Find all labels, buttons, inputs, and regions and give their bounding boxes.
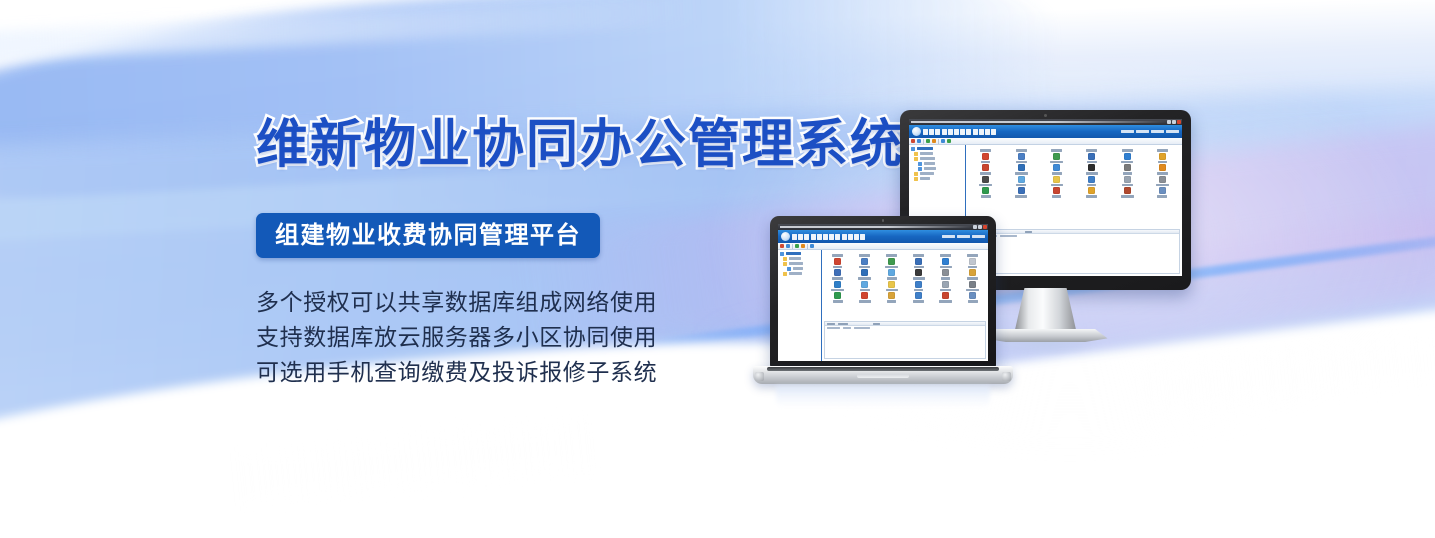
window-title-text bbox=[780, 226, 972, 228]
maximize-icon[interactable] bbox=[978, 225, 982, 229]
module-icon bbox=[969, 292, 976, 299]
module-label bbox=[1087, 161, 1097, 164]
module-icon bbox=[1053, 164, 1060, 171]
module-grid-item[interactable] bbox=[1109, 176, 1144, 187]
module-label bbox=[980, 149, 991, 152]
module-icon bbox=[969, 258, 976, 265]
toolbar-icon[interactable] bbox=[801, 244, 805, 248]
tree-node-label bbox=[789, 272, 802, 275]
module-label bbox=[858, 277, 871, 280]
window-title-text bbox=[911, 121, 1166, 123]
module-label bbox=[887, 300, 896, 303]
app-header-banner bbox=[909, 125, 1182, 138]
module-label bbox=[1015, 172, 1028, 175]
module-label bbox=[1158, 161, 1167, 164]
module-icon bbox=[1159, 187, 1166, 194]
tree-node-label bbox=[786, 252, 801, 255]
tree-node[interactable] bbox=[911, 152, 963, 156]
app-title-text bbox=[923, 129, 996, 135]
module-label bbox=[1121, 161, 1133, 164]
folder-icon bbox=[918, 167, 922, 171]
module-label bbox=[913, 254, 924, 257]
module-icon bbox=[888, 292, 895, 299]
toolbar-separator bbox=[938, 139, 939, 144]
monitor-shadow bbox=[990, 342, 1102, 356]
cell-value bbox=[827, 327, 840, 329]
folder-icon bbox=[783, 272, 787, 276]
module-grid-caption bbox=[1004, 148, 1039, 152]
module-icon bbox=[1124, 187, 1131, 194]
module-grid-item[interactable] bbox=[851, 269, 878, 280]
module-grid-item[interactable] bbox=[1109, 153, 1144, 164]
module-icon bbox=[982, 187, 989, 194]
tree-node-label bbox=[789, 262, 803, 265]
module-grid-item[interactable] bbox=[968, 164, 1003, 175]
toolbar-icon[interactable] bbox=[911, 139, 915, 143]
module-label bbox=[1122, 149, 1133, 152]
tree-node[interactable] bbox=[780, 272, 819, 276]
module-label bbox=[885, 266, 898, 269]
app-title-text bbox=[792, 234, 865, 240]
toolbar-icon[interactable] bbox=[932, 139, 936, 143]
toolbar-icon[interactable] bbox=[917, 139, 921, 143]
tree-node-label bbox=[793, 267, 803, 270]
module-icon bbox=[1159, 176, 1166, 183]
module-icon bbox=[1053, 176, 1060, 183]
toolbar-icon[interactable] bbox=[941, 139, 945, 143]
module-icon bbox=[888, 281, 895, 288]
module-label bbox=[1157, 195, 1167, 198]
module-icon bbox=[888, 269, 895, 276]
module-icon bbox=[942, 281, 949, 288]
module-grid-item[interactable] bbox=[905, 281, 932, 292]
tree-node[interactable] bbox=[780, 267, 819, 271]
laptop-lid bbox=[770, 216, 996, 368]
module-icon bbox=[1053, 187, 1060, 194]
app-logo-icon bbox=[781, 232, 790, 241]
module-grid-caption bbox=[878, 253, 905, 257]
module-grid-caption bbox=[851, 253, 878, 257]
module-icon bbox=[1018, 176, 1025, 183]
module-label bbox=[1086, 172, 1098, 175]
toolbar-icon[interactable] bbox=[810, 244, 814, 248]
laptop-reflection bbox=[776, 386, 990, 408]
module-label bbox=[833, 300, 843, 303]
column-header bbox=[873, 323, 880, 325]
folder-icon bbox=[787, 267, 791, 271]
laptop-foot bbox=[1002, 372, 1011, 381]
module-icon bbox=[915, 281, 922, 288]
module-label bbox=[939, 300, 952, 303]
app-toolbar[interactable] bbox=[778, 243, 988, 250]
module-label bbox=[1051, 184, 1063, 187]
module-icon-grid[interactable] bbox=[966, 145, 1182, 227]
module-icon bbox=[1159, 164, 1166, 171]
module-label bbox=[859, 266, 870, 269]
folder-icon bbox=[783, 262, 787, 266]
folder-icon bbox=[780, 252, 784, 256]
module-icon bbox=[969, 281, 976, 288]
module-grid-caption bbox=[968, 148, 1003, 152]
module-grid-item[interactable] bbox=[905, 258, 932, 269]
module-grid-item[interactable] bbox=[959, 281, 986, 292]
minimize-icon[interactable] bbox=[1167, 120, 1171, 124]
module-label bbox=[887, 277, 897, 280]
tree-node[interactable] bbox=[780, 252, 819, 256]
laptop-hinge bbox=[767, 367, 999, 371]
module-icon bbox=[982, 176, 989, 183]
module-icon bbox=[861, 292, 868, 299]
module-icon bbox=[888, 258, 895, 265]
module-grid-item[interactable] bbox=[851, 292, 878, 303]
app-header-banner bbox=[778, 230, 988, 243]
module-icon bbox=[861, 258, 868, 265]
webcam-icon bbox=[882, 219, 885, 222]
tree-node[interactable] bbox=[911, 172, 963, 176]
toolbar-separator bbox=[923, 139, 924, 144]
module-grid-item[interactable] bbox=[878, 281, 905, 292]
tree-node[interactable] bbox=[911, 147, 963, 151]
module-label bbox=[979, 184, 992, 187]
toolbar-icon[interactable] bbox=[947, 139, 951, 143]
module-icon bbox=[1159, 153, 1166, 160]
module-icon bbox=[834, 281, 841, 288]
module-label bbox=[980, 172, 991, 175]
module-grid-caption bbox=[905, 253, 932, 257]
webcam-icon bbox=[1044, 114, 1047, 117]
module-grid-item[interactable] bbox=[1145, 176, 1180, 187]
tree-node[interactable] bbox=[911, 162, 963, 166]
module-label bbox=[886, 254, 897, 257]
module-label bbox=[1016, 149, 1027, 152]
tree-node[interactable] bbox=[911, 157, 963, 161]
laptop-foot bbox=[755, 372, 764, 381]
module-icon bbox=[1088, 187, 1095, 194]
tree-node-label bbox=[920, 157, 935, 160]
module-icon bbox=[942, 258, 949, 265]
module-icon-grid[interactable] bbox=[822, 250, 988, 319]
module-grid-item[interactable] bbox=[968, 176, 1003, 187]
module-grid-item[interactable] bbox=[1074, 176, 1109, 187]
module-grid-item[interactable] bbox=[851, 258, 878, 269]
module-label bbox=[1086, 149, 1097, 152]
tree-node-label bbox=[920, 172, 934, 175]
module-icon bbox=[1018, 153, 1025, 160]
module-grid-item[interactable] bbox=[905, 292, 932, 303]
module-grid-item[interactable] bbox=[1039, 176, 1074, 187]
module-grid-item[interactable] bbox=[968, 187, 1003, 198]
module-icon bbox=[982, 164, 989, 171]
toolbar-icon[interactable] bbox=[926, 139, 930, 143]
folder-icon bbox=[911, 147, 915, 151]
page-title: 维新物业协同办公管理系统 bbox=[256, 118, 896, 173]
laptop-base bbox=[753, 366, 1013, 384]
cell-value bbox=[1000, 235, 1017, 237]
module-icon bbox=[1124, 153, 1131, 160]
module-grid-item[interactable] bbox=[932, 281, 959, 292]
toolbar-separator bbox=[807, 244, 808, 249]
laptop-computer bbox=[770, 216, 996, 368]
laptop-screen bbox=[778, 224, 988, 361]
module-label bbox=[1052, 195, 1061, 198]
module-label bbox=[833, 266, 842, 269]
module-grid-item[interactable] bbox=[878, 269, 905, 280]
module-grid-item[interactable] bbox=[1074, 164, 1109, 175]
module-label bbox=[1015, 195, 1027, 198]
module-label bbox=[1051, 149, 1062, 152]
module-label bbox=[967, 277, 978, 280]
module-label bbox=[940, 266, 952, 269]
folder-icon bbox=[914, 152, 918, 156]
module-grid-caption bbox=[1074, 148, 1109, 152]
module-label bbox=[886, 289, 898, 292]
module-grid-item[interactable] bbox=[1004, 164, 1039, 175]
module-grid-item[interactable] bbox=[1145, 164, 1180, 175]
module-icon bbox=[915, 269, 922, 276]
module-icon bbox=[1124, 176, 1131, 183]
tree-node-label bbox=[924, 167, 936, 170]
module-grid-item[interactable] bbox=[824, 292, 851, 303]
module-grid-item[interactable] bbox=[851, 281, 878, 292]
module-icon bbox=[942, 269, 949, 276]
folder-icon bbox=[914, 177, 918, 181]
toolbar-separator bbox=[792, 244, 793, 249]
navigation-tree[interactable] bbox=[778, 250, 822, 361]
module-grid-item[interactable] bbox=[932, 269, 959, 280]
module-label bbox=[1121, 195, 1134, 198]
module-grid-item[interactable] bbox=[1109, 187, 1144, 198]
tree-node-label bbox=[920, 177, 930, 180]
tree-node-label bbox=[920, 152, 933, 155]
app-main-content bbox=[966, 145, 1182, 276]
tree-node[interactable] bbox=[911, 177, 963, 181]
tree-node[interactable] bbox=[780, 257, 819, 261]
module-grid-item[interactable] bbox=[824, 269, 851, 280]
app-logo-icon bbox=[912, 127, 921, 136]
module-icon bbox=[1124, 164, 1131, 171]
module-label bbox=[1157, 172, 1168, 175]
module-grid-item[interactable] bbox=[932, 258, 959, 269]
folder-icon bbox=[918, 162, 922, 166]
tree-node-label bbox=[789, 257, 801, 260]
records-list-panel[interactable] bbox=[824, 321, 986, 359]
tree-node-label bbox=[924, 162, 935, 165]
module-label bbox=[860, 289, 870, 292]
module-label bbox=[914, 289, 923, 292]
module-icon bbox=[1088, 153, 1095, 160]
app-main-content bbox=[822, 250, 988, 361]
module-icon bbox=[1018, 187, 1025, 194]
module-icon bbox=[982, 153, 989, 160]
module-icon bbox=[834, 269, 841, 276]
tree-node[interactable] bbox=[911, 167, 963, 171]
module-label bbox=[1052, 172, 1062, 175]
module-label bbox=[1050, 161, 1063, 164]
module-icon bbox=[942, 292, 949, 299]
module-label bbox=[941, 277, 950, 280]
column-header bbox=[838, 323, 848, 325]
module-label bbox=[859, 300, 871, 303]
module-grid-item[interactable] bbox=[932, 292, 959, 303]
module-icon bbox=[969, 269, 976, 276]
module-icon bbox=[1088, 164, 1095, 171]
module-icon bbox=[861, 281, 868, 288]
module-grid-item[interactable] bbox=[1039, 153, 1074, 164]
module-label bbox=[1087, 184, 1096, 187]
module-grid-item[interactable] bbox=[1004, 176, 1039, 187]
folder-icon bbox=[914, 172, 918, 176]
module-grid-item[interactable] bbox=[1004, 153, 1039, 164]
module-icon bbox=[1018, 164, 1025, 171]
app-header-menu[interactable] bbox=[942, 235, 985, 239]
module-icon bbox=[834, 258, 841, 265]
toolbar-icon[interactable] bbox=[780, 244, 784, 248]
tree-node[interactable] bbox=[780, 262, 819, 266]
monitor-stand-base bbox=[984, 329, 1108, 342]
module-label bbox=[832, 277, 843, 280]
module-grid-item[interactable] bbox=[1074, 153, 1109, 164]
cell-value bbox=[854, 327, 870, 329]
folder-icon bbox=[914, 157, 918, 161]
module-grid-caption bbox=[959, 253, 986, 257]
module-label bbox=[1122, 184, 1133, 187]
app-window-laptop bbox=[778, 224, 988, 361]
module-icon bbox=[1088, 176, 1095, 183]
module-grid-item[interactable] bbox=[1145, 187, 1180, 198]
module-grid-item[interactable] bbox=[1074, 187, 1109, 198]
module-label bbox=[1156, 184, 1169, 187]
column-header bbox=[827, 323, 835, 325]
module-icon bbox=[1053, 153, 1060, 160]
module-label bbox=[981, 195, 991, 198]
records-list-panel[interactable] bbox=[968, 229, 1180, 274]
module-icon bbox=[915, 292, 922, 299]
module-label bbox=[968, 300, 978, 303]
close-icon[interactable] bbox=[983, 225, 987, 229]
module-grid-item[interactable] bbox=[824, 281, 851, 292]
module-grid-item[interactable] bbox=[824, 258, 851, 269]
list-item[interactable] bbox=[969, 234, 1179, 238]
folder-icon bbox=[783, 257, 787, 261]
module-label bbox=[1016, 184, 1026, 187]
module-grid-item[interactable] bbox=[1145, 153, 1180, 164]
module-grid-item[interactable] bbox=[968, 153, 1003, 164]
module-label bbox=[940, 289, 951, 292]
module-grid-item[interactable] bbox=[959, 292, 986, 303]
module-label bbox=[1016, 161, 1027, 164]
module-grid-item[interactable] bbox=[1039, 187, 1074, 198]
module-grid-caption bbox=[1145, 148, 1180, 152]
module-grid-item[interactable] bbox=[1004, 187, 1039, 198]
close-icon[interactable] bbox=[1177, 120, 1181, 124]
module-label bbox=[1086, 195, 1097, 198]
module-label bbox=[831, 289, 844, 292]
module-grid-item[interactable] bbox=[878, 258, 905, 269]
tree-node-label bbox=[917, 147, 933, 150]
module-label bbox=[859, 254, 870, 257]
module-label bbox=[966, 289, 979, 292]
module-grid-item[interactable] bbox=[1109, 164, 1144, 175]
module-label bbox=[913, 277, 925, 280]
monitor-stand-neck bbox=[1015, 288, 1077, 332]
module-icon bbox=[915, 258, 922, 265]
module-grid-item[interactable] bbox=[959, 258, 986, 269]
module-label bbox=[1123, 172, 1132, 175]
minimize-icon[interactable] bbox=[973, 225, 977, 229]
module-label bbox=[913, 300, 924, 303]
toolbar-icon[interactable] bbox=[795, 244, 799, 248]
module-icon bbox=[861, 269, 868, 276]
module-grid-item[interactable] bbox=[959, 269, 986, 280]
module-label bbox=[832, 254, 843, 257]
app-header-menu[interactable] bbox=[1121, 130, 1179, 134]
module-icon bbox=[834, 292, 841, 299]
module-label bbox=[940, 254, 951, 257]
app-body bbox=[778, 250, 988, 361]
module-label bbox=[968, 266, 977, 269]
column-header bbox=[1025, 231, 1032, 233]
module-label bbox=[1157, 149, 1168, 152]
list-item[interactable] bbox=[825, 326, 985, 330]
maximize-icon[interactable] bbox=[1172, 120, 1176, 124]
module-grid-caption bbox=[1109, 148, 1144, 152]
cell-value bbox=[843, 327, 851, 329]
module-label bbox=[914, 266, 924, 269]
module-grid-item[interactable] bbox=[1039, 164, 1074, 175]
app-toolbar[interactable] bbox=[909, 138, 1182, 145]
toolbar-icon[interactable] bbox=[786, 244, 790, 248]
module-label bbox=[967, 254, 978, 257]
trackpad[interactable] bbox=[857, 374, 909, 378]
module-grid-caption bbox=[932, 253, 959, 257]
module-grid-caption bbox=[824, 253, 851, 257]
module-grid-item[interactable] bbox=[905, 269, 932, 280]
module-grid-caption bbox=[1039, 148, 1074, 152]
module-label bbox=[981, 161, 990, 164]
module-grid-item[interactable] bbox=[878, 292, 905, 303]
promotional-banner: 维新物业协同办公管理系统 组建物业收费协同管理平台 多个授权可以共享数据库组成网… bbox=[0, 0, 1435, 538]
tagline-badge: 组建物业收费协同管理平台 bbox=[256, 213, 600, 258]
